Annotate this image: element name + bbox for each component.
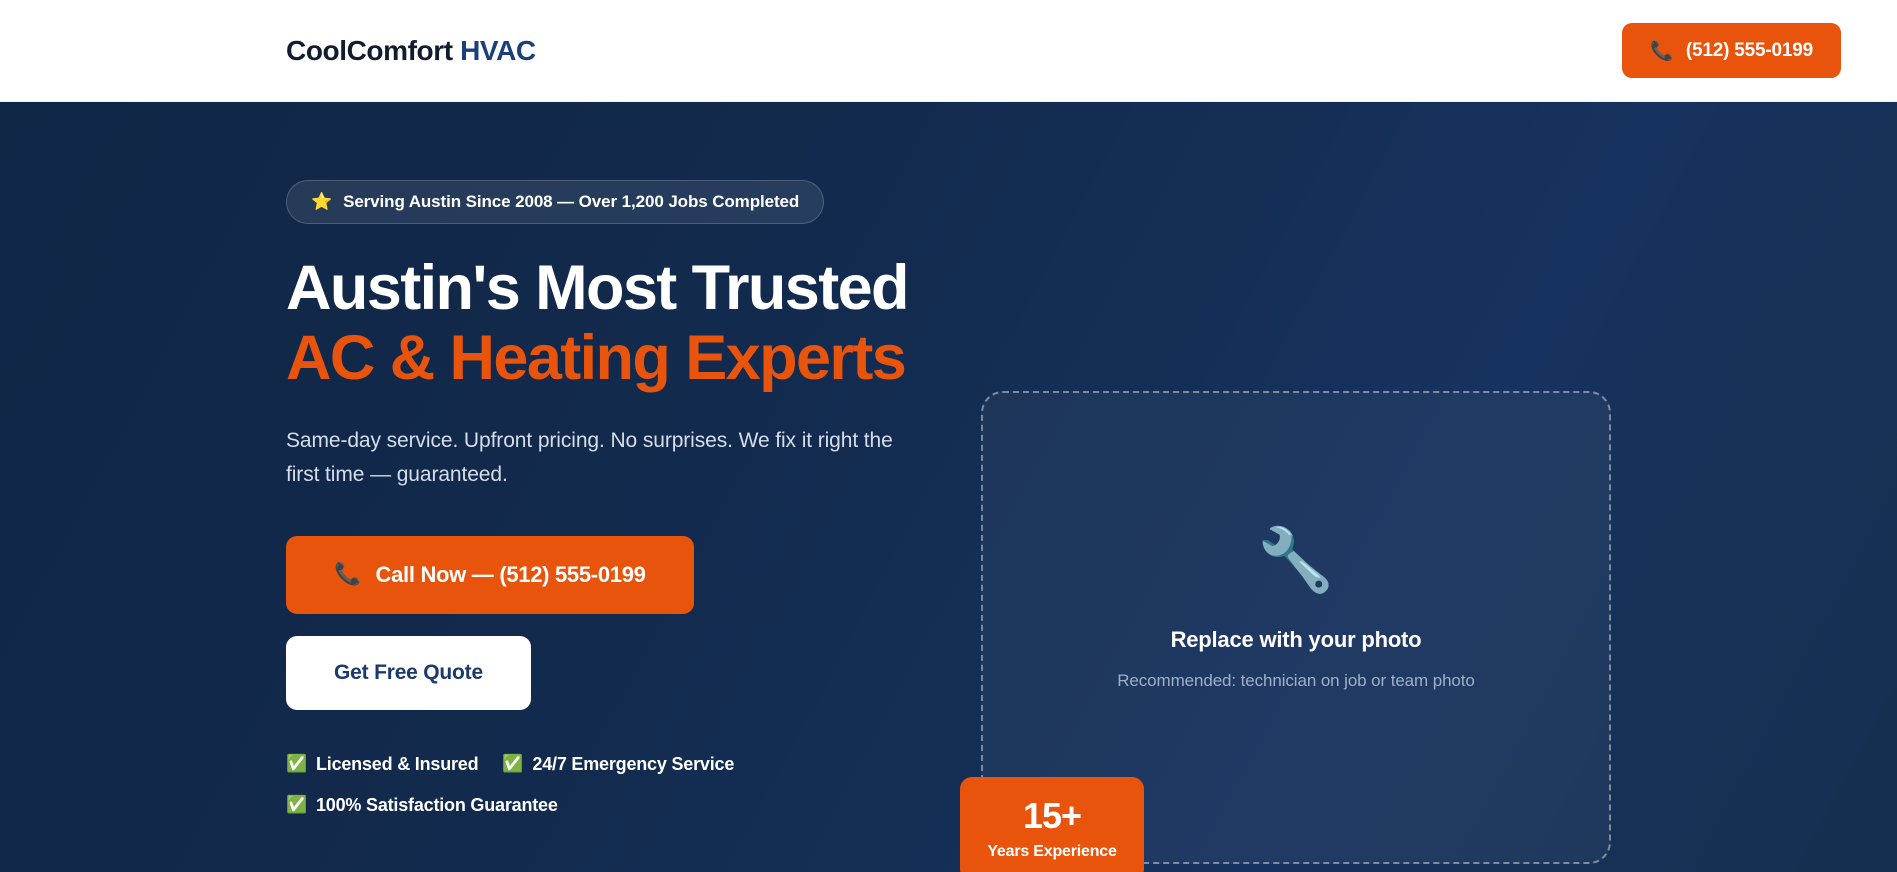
get-free-quote-button-label: Get Free Quote [334, 661, 483, 685]
hero-headline-line-2: Trusted [692, 253, 908, 323]
hero-eyebrow-badge-text: Serving Austin Since 2008 — Over 1,200 J… [343, 192, 799, 212]
trust-badge-label: 24/7 Emergency Service [532, 754, 734, 775]
header-call-button[interactable]: 📞 (512) 555-0199 [1622, 23, 1841, 78]
hero-eyebrow-badge: ⭐ Serving Austin Since 2008 — Over 1,200… [286, 180, 824, 224]
get-free-quote-button[interactable]: Get Free Quote [286, 636, 531, 710]
header-call-button-label: (512) 555-0199 [1686, 40, 1813, 62]
hero-section: ⭐ Serving Austin Since 2008 — Over 1,200… [0, 102, 1897, 872]
check-mark-icon: ✅ [502, 754, 523, 774]
hero-headline-accent: AC & Heating Experts [286, 324, 986, 394]
trust-badge-licensed: ✅ Licensed & Insured [286, 754, 478, 775]
photo-placeholder-hint: Recommended: technician on job or team p… [1117, 671, 1475, 691]
trust-badge-label: Licensed & Insured [316, 754, 478, 775]
call-now-button-label: Call Now — (512) 555-0199 [376, 562, 646, 588]
brand-name-primary: CoolComfort [286, 35, 453, 66]
years-experience-label: Years Experience [987, 843, 1116, 861]
star-icon: ⭐ [311, 192, 332, 212]
hero-headline: Austin's Most Trusted AC & Heating Exper… [286, 254, 986, 394]
years-experience-badge: 15+ Years Experience [960, 777, 1144, 872]
hero-content-column: ⭐ Serving Austin Since 2008 — Over 1,200… [286, 102, 986, 816]
site-header: CoolComfort HVAC 📞 (512) 555-0199 [0, 0, 1897, 102]
hero-subheadline: Same-day service. Upfront pricing. No su… [286, 424, 906, 492]
hero-headline-line-1: Austin's Most [286, 253, 676, 323]
phone-icon: 📞 [334, 562, 361, 587]
trust-badge-emergency: ✅ 24/7 Emergency Service [502, 754, 734, 775]
hero-media-column: 🔧 Replace with your photo Recommended: t… [981, 391, 1611, 864]
years-experience-number: 15+ [1023, 798, 1081, 834]
photo-placeholder-title: Replace with your photo [1171, 627, 1422, 653]
trust-badge-label: 100% Satisfaction Guarantee [316, 795, 558, 816]
trust-badge-list: ✅ Licensed & Insured ✅ 24/7 Emergency Se… [286, 754, 756, 816]
brand-name-accent: HVAC [460, 35, 536, 66]
check-mark-icon: ✅ [286, 754, 307, 774]
hero-cta-group: 📞 Call Now — (512) 555-0199 Get Free Quo… [286, 536, 986, 710]
wrench-icon: 🔧 [1257, 529, 1334, 591]
brand-logo[interactable]: CoolComfort HVAC [286, 35, 536, 67]
call-now-button[interactable]: 📞 Call Now — (512) 555-0199 [286, 536, 694, 614]
phone-icon: 📞 [1650, 39, 1673, 62]
trust-badge-satisfaction: ✅ 100% Satisfaction Guarantee [286, 795, 558, 816]
check-mark-icon: ✅ [286, 795, 307, 815]
